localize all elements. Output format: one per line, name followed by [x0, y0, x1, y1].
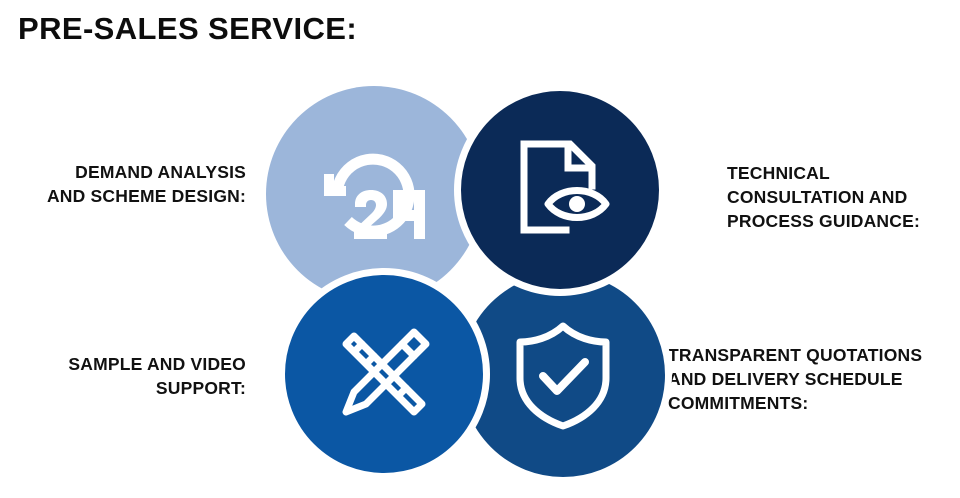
label-demand-analysis: DEMAND ANALYSIS AND SCHEME DESIGN:	[0, 160, 246, 208]
24-hour-rotate-arrow-icon	[315, 139, 433, 249]
label-technical-consultation: TECHNICAL CONSULTATION AND PROCESS GUIDA…	[727, 161, 955, 233]
document-eye-review-icon	[504, 134, 616, 246]
circle-cluster	[258, 70, 678, 490]
bubble-sample-and-video[interactable]	[278, 268, 490, 480]
label-sample-and-video: SAMPLE AND VIDEO SUPPORT:	[0, 352, 246, 400]
page-title: PRE-SALES SERVICE:	[18, 12, 357, 46]
pencil-ruler-crossed-icon	[326, 316, 442, 432]
label-transparent-quotations: TRANSPARENT QUOTATIONS AND DELIVERY SCHE…	[668, 343, 960, 415]
infographic-canvas: PRE-SALES SERVICE: DEMAND ANALYSIS AND S…	[0, 0, 960, 498]
shield-check-icon	[508, 318, 618, 432]
bubble-technical-consultation[interactable]	[454, 84, 666, 296]
